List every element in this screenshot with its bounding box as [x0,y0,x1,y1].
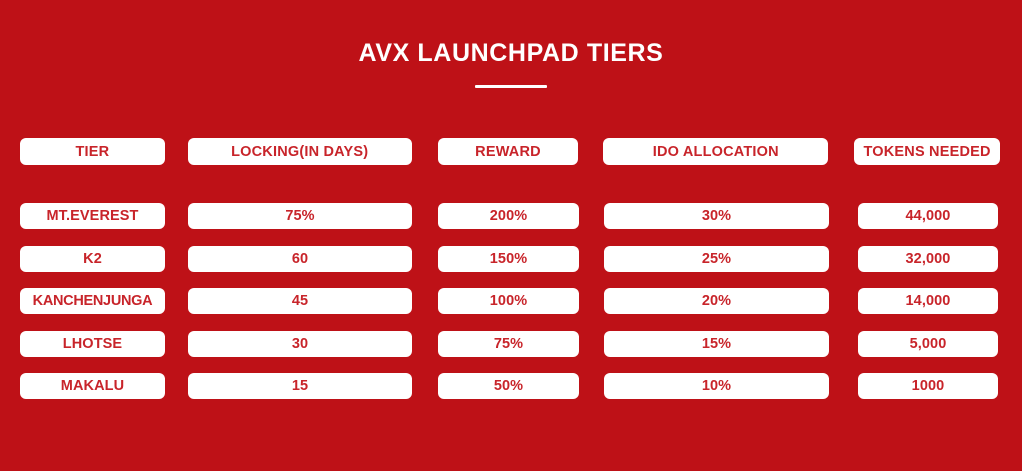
column-header-tokens-needed: TOKENS NEEDED [854,138,1000,165]
cell-tokens-needed: 5,000 [858,331,998,357]
cell-tokens-needed: 32,000 [858,246,998,272]
cell-tier: MAKALU [20,373,165,399]
column-header-ido-allocation: IDO ALLOCATION [603,138,828,165]
cell-locking: 30 [188,331,412,357]
cell-ido-allocation: 10% [604,373,829,399]
tiers-table: TIER LOCKING(IN DAYS) REWARD IDO ALLOCAT… [20,138,1000,399]
table-header-row: TIER LOCKING(IN DAYS) REWARD IDO ALLOCAT… [20,138,1000,165]
cell-reward: 75% [438,331,579,357]
cell-reward: 50% [438,373,579,399]
table-row: LHOTSE 30 75% 15% 5,000 [20,331,1000,357]
cell-tier: KANCHENJUNGA [20,288,165,314]
cell-reward: 150% [438,246,579,272]
cell-ido-allocation: 20% [604,288,829,314]
table-row: KANCHENJUNGA 45 100% 20% 14,000 [20,288,1000,314]
table-row: K2 60 150% 25% 32,000 [20,246,1000,272]
page-title: AVX LAUNCHPAD TIERS [0,38,1022,68]
cell-tier: MT.EVEREST [20,203,165,229]
cell-tokens-needed: 14,000 [858,288,998,314]
title-block: AVX LAUNCHPAD TIERS [0,38,1022,88]
cell-locking: 75% [188,203,412,229]
cell-ido-allocation: 15% [604,331,829,357]
cell-reward: 200% [438,203,579,229]
cell-tokens-needed: 1000 [858,373,998,399]
cell-tier: K2 [20,246,165,272]
table-row: MAKALU 15 50% 10% 1000 [20,373,1000,399]
column-header-locking: LOCKING(IN DAYS) [188,138,412,165]
cell-reward: 100% [438,288,579,314]
cell-tier: LHOTSE [20,331,165,357]
cell-ido-allocation: 25% [604,246,829,272]
cell-locking: 45 [188,288,412,314]
column-header-reward: REWARD [438,138,579,165]
cell-tokens-needed: 44,000 [858,203,998,229]
launchpad-tiers-page: AVX LAUNCHPAD TIERS TIER LOCKING(IN DAYS… [0,0,1022,471]
title-divider [475,85,547,88]
cell-locking: 60 [188,246,412,272]
table-row: MT.EVEREST 75% 200% 30% 44,000 [20,203,1000,229]
column-header-tier: TIER [20,138,165,165]
cell-locking: 15 [188,373,412,399]
cell-ido-allocation: 30% [604,203,829,229]
